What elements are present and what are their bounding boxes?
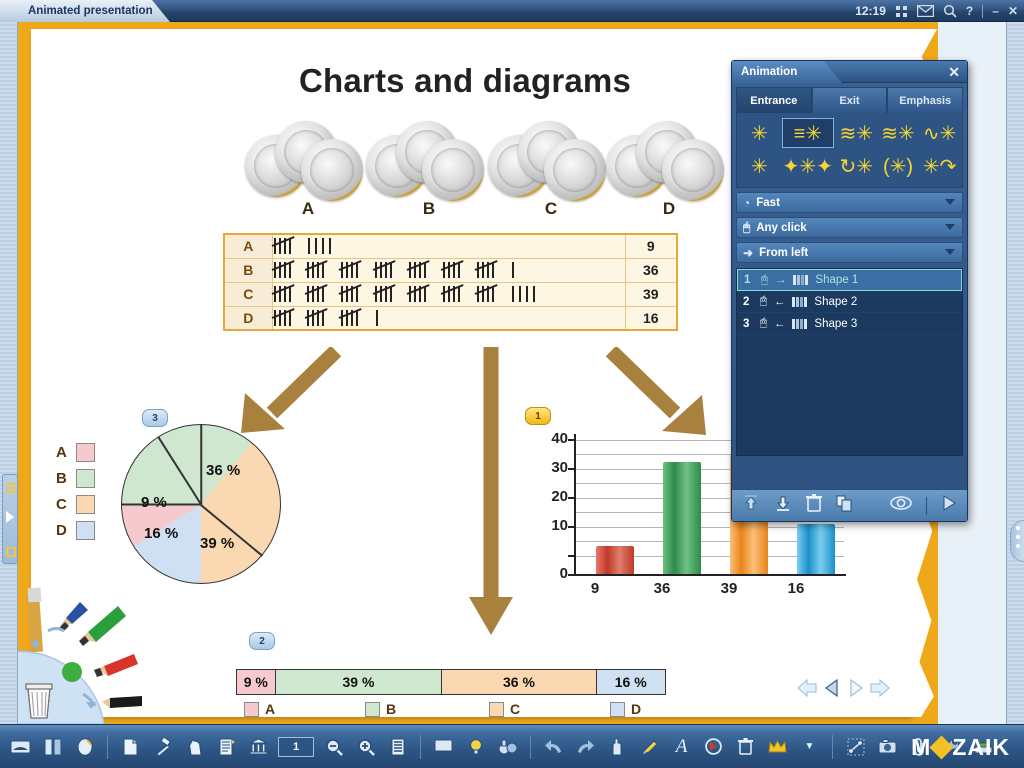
mozaik-logo: MZAIK <box>911 734 1010 761</box>
zoom-out-icon[interactable] <box>321 734 346 760</box>
bar <box>797 524 835 574</box>
undo-icon[interactable] <box>541 734 566 760</box>
presentation-icon[interactable] <box>431 734 456 760</box>
tally-single <box>524 285 531 303</box>
stacked-bar-legend: A B C D <box>236 701 666 721</box>
coin-group-label: A <box>243 199 373 219</box>
legend-item: C <box>489 701 520 717</box>
duplicate-icon[interactable] <box>836 495 853 517</box>
hand-icon[interactable] <box>605 734 630 760</box>
legend-item: D <box>610 701 641 717</box>
shrink-icon[interactable]: ✦✳✦ <box>782 151 834 181</box>
pie-label-a: 9 % <box>141 494 167 511</box>
animation-tabs: Entrance Exit Emphasis <box>736 87 963 113</box>
list-item[interactable]: 1 🖱 → Shape 1 <box>737 269 962 291</box>
tally-single <box>510 261 517 279</box>
book-icon[interactable] <box>8 734 33 760</box>
item-order: 2 <box>743 296 753 308</box>
legend-swatch <box>76 443 95 462</box>
first-page-arrow[interactable] <box>796 678 818 703</box>
delete-icon[interactable] <box>806 494 822 517</box>
legend-swatch <box>76 521 95 540</box>
speed-dropdown[interactable]: ◔ Fast <box>736 192 963 213</box>
legend-item: A <box>244 701 275 717</box>
badge-bar-chart[interactable]: 1 <box>525 407 551 425</box>
search-icon[interactable] <box>943 4 957 18</box>
legend-item: D <box>56 517 95 543</box>
animation-panel-title-tab: Animation <box>732 61 842 83</box>
direction-dropdown[interactable]: ➜ From left <box>736 242 963 263</box>
coin-group-b: B <box>364 121 494 211</box>
divider <box>982 5 983 18</box>
move-up-icon[interactable] <box>742 494 760 517</box>
mouse-icon[interactable] <box>72 734 97 760</box>
tally-marks <box>272 306 625 330</box>
tally-single <box>374 309 381 327</box>
effect-bars-icon <box>792 297 807 307</box>
wave-in-icon[interactable]: ∿✳ <box>920 118 959 148</box>
menu-lines-icon <box>6 483 16 495</box>
next-page-arrow[interactable] <box>846 678 864 703</box>
arrow-to-stacked-bar <box>461 347 521 637</box>
legend-label: D <box>631 701 641 717</box>
fly-in-fast-icon[interactable]: ≋✳ <box>879 118 918 148</box>
chevron-down-icon <box>945 199 955 205</box>
right-rail-grip[interactable] <box>1010 520 1024 562</box>
list-item[interactable]: 2 🖱 ← Shape 2 <box>737 291 962 313</box>
table-row: D 16 <box>224 306 677 330</box>
coin-group-d: D <box>604 121 734 211</box>
effect-bars-icon <box>792 319 807 329</box>
tally-group-of-five <box>273 285 303 303</box>
trigger-dropdown[interactable]: 🖱 Any click <box>736 217 963 238</box>
tally-marks <box>272 282 625 306</box>
row-letter: D <box>224 306 272 330</box>
tally-group-of-five <box>273 237 303 255</box>
pie-chart: 36 % 9 % 16 % 39 % <box>121 424 296 599</box>
legend-swatch <box>365 702 380 717</box>
animation-panel-toolbar <box>732 489 967 521</box>
node-icon[interactable] <box>843 734 868 760</box>
bar-chart-x-axis <box>574 574 846 576</box>
chess-knight-icon[interactable] <box>182 734 207 760</box>
close-icon[interactable]: ✕ <box>948 64 960 81</box>
effect-bars-icon <box>793 275 808 285</box>
bulb-icon[interactable] <box>463 734 488 760</box>
pie-divider <box>200 425 202 505</box>
legend-item: B <box>56 465 95 491</box>
pie-label-d: 16 % <box>144 525 178 542</box>
tally-single <box>327 237 334 255</box>
legend-label: A <box>56 444 66 461</box>
record-icon[interactable] <box>701 734 726 760</box>
legend-swatch <box>489 702 504 717</box>
legend-item: C <box>56 491 95 517</box>
stack-segment-b: 39 % <box>276 670 443 694</box>
fly-in-icon[interactable]: ≡✳ <box>782 118 834 148</box>
coin-icon <box>544 139 606 201</box>
help-icon[interactable]: ? <box>966 4 973 18</box>
y-tick-label: 40 <box>538 430 568 447</box>
row-letter: A <box>224 234 272 258</box>
coin-group-label: D <box>604 199 734 219</box>
tally-group-of-five <box>273 309 303 327</box>
stack-segment-a: 9 % <box>237 670 276 694</box>
tally-group-of-five <box>340 309 370 327</box>
mail-icon[interactable] <box>917 5 934 17</box>
table-row: C 39 <box>224 282 677 306</box>
row-total: 39 <box>625 282 677 306</box>
tally-group-of-five <box>306 285 336 303</box>
title-bar: Animated presentation 12:19 ? – ✕ <box>0 0 1024 22</box>
mouse-icon: 🖱 <box>743 220 750 235</box>
text-lines-icon[interactable] <box>385 734 410 760</box>
close-button[interactable]: ✕ <box>1008 4 1018 18</box>
direction-icon: ← <box>774 318 786 330</box>
tab-emphasis[interactable]: Emphasis <box>887 87 963 113</box>
row-total: 16 <box>625 306 677 330</box>
tally-group-of-five <box>306 261 336 279</box>
legend-swatch <box>76 495 95 514</box>
list-icon[interactable] <box>214 734 239 760</box>
shape-name: Shape 1 <box>815 274 858 286</box>
animation-shape-list[interactable]: 1 🖱 → Shape 1 2 🖱 ← Shape 2 3 🖱 ← Shape … <box>736 268 963 456</box>
legend-label: B <box>386 701 396 717</box>
bar <box>663 462 701 574</box>
prev-page-arrow[interactable] <box>823 678 841 703</box>
tally-group-of-five <box>374 261 404 279</box>
mouse-icon: 🖱 <box>760 317 767 330</box>
direction-icon: ← <box>774 296 786 308</box>
animation-panel-titlebar: Animation ✕ <box>732 61 967 83</box>
page-icon[interactable] <box>118 734 143 760</box>
slide-navigation <box>796 678 891 703</box>
left-rail-panel-tab[interactable] <box>2 474 18 564</box>
table-row: A 9 <box>224 234 677 258</box>
chevron-down-icon <box>945 224 955 230</box>
binoculars-icon[interactable] <box>495 734 520 760</box>
expand-icon[interactable] <box>6 547 16 557</box>
mouse-icon: 🖱 <box>760 295 767 308</box>
table-row: B 36 <box>224 258 677 282</box>
tally-single <box>313 237 320 255</box>
y-tick-label: 10 <box>538 517 568 534</box>
item-order: 3 <box>743 318 753 330</box>
orbit-icon[interactable]: ✳↷ <box>920 151 959 181</box>
row-letter: C <box>224 282 272 306</box>
tally-group-of-five <box>476 261 506 279</box>
burst-icon[interactable]: ✳ <box>740 118 779 148</box>
tally-group-of-five <box>374 285 404 303</box>
tally-single <box>517 285 524 303</box>
expand-icon[interactable]: ✳ <box>740 151 779 181</box>
left-rail <box>0 22 18 724</box>
logo-diamond-icon <box>930 735 954 759</box>
minimize-button[interactable]: – <box>992 4 999 18</box>
mouse-icon: 🖱 <box>761 274 768 287</box>
pie-chart-legend: A B C D <box>56 439 95 543</box>
tally-single <box>320 237 327 255</box>
coin-group-label: C <box>486 199 616 219</box>
stack-segment-d: 16 % <box>597 670 665 694</box>
move-down-icon[interactable] <box>774 494 792 517</box>
speed-icon: ◔ <box>743 196 750 210</box>
legend-label: C <box>56 496 66 513</box>
play-icon[interactable] <box>941 495 957 516</box>
grid-icon[interactable] <box>895 5 908 18</box>
logo-text-right: ZAIK <box>952 734 1010 761</box>
tally-group-of-five <box>340 285 370 303</box>
coin-icon <box>422 139 484 201</box>
camera-icon[interactable] <box>875 734 900 760</box>
stack-segment-c: 36 % <box>442 670 596 694</box>
right-rail <box>1006 22 1024 724</box>
pie-label-c: 39 % <box>200 535 234 552</box>
trigger-value: Any click <box>756 222 807 234</box>
x-tick-label: 16 <box>771 580 821 597</box>
effect-icon-grid: ✳ ≡✳ ≋✳ ≋✳ ∿✳ ✳ ✦✳✦ ↻✳ (✳) ✳↷ <box>736 113 963 188</box>
preview-eye-icon[interactable] <box>890 496 912 515</box>
coin-group-c: C <box>486 121 616 211</box>
app-title-label: Animated presentation <box>28 5 153 17</box>
pie-label-b: 36 % <box>206 462 240 479</box>
coin-group-a: A <box>243 121 373 211</box>
row-total: 9 <box>625 234 677 258</box>
last-page-arrow[interactable] <box>869 678 891 703</box>
tally-group-of-five <box>408 261 438 279</box>
stacked-bar-chart: 9 % 39 % 36 % 16 % <box>236 669 666 695</box>
chevron-down-icon <box>945 249 955 255</box>
logo-text-left: M <box>911 734 931 761</box>
x-tick-label: 39 <box>704 580 754 597</box>
hammer-icon[interactable] <box>150 734 175 760</box>
tally-group-of-five <box>442 285 472 303</box>
list-item[interactable]: 3 🖱 ← Shape 3 <box>737 313 962 335</box>
legend-swatch <box>244 702 259 717</box>
animation-panel-title: Animation <box>741 66 797 78</box>
coin-icon <box>662 139 724 201</box>
tally-single <box>306 237 313 255</box>
text-icon[interactable]: A <box>669 734 694 760</box>
tally-group-of-five <box>408 285 438 303</box>
app-title-tab[interactable]: Animated presentation <box>0 0 170 22</box>
speed-value: Fast <box>756 197 780 209</box>
badge-stacked-bar[interactable]: 2 <box>249 632 275 650</box>
legend-item: A <box>56 439 95 465</box>
swivel-icon[interactable]: (✳) <box>879 151 918 181</box>
y-tick-label: 0 <box>538 565 568 582</box>
crown-icon[interactable] <box>765 734 790 760</box>
tally-single <box>510 285 517 303</box>
tally-group-of-five <box>273 261 303 279</box>
row-letter: B <box>224 258 272 282</box>
zoom-in-icon[interactable] <box>353 734 378 760</box>
y-tick-label: 30 <box>538 459 568 476</box>
item-order: 1 <box>744 274 754 286</box>
legend-swatch <box>610 702 625 717</box>
legend-swatch <box>76 469 95 488</box>
play-icon[interactable] <box>6 511 14 523</box>
tab-exit[interactable]: Exit <box>812 87 888 113</box>
x-tick-label: 9 <box>570 580 620 597</box>
tally-group-of-five <box>442 261 472 279</box>
bar <box>596 546 634 574</box>
tally-marks <box>272 258 625 282</box>
clock-label: 12:19 <box>855 4 886 18</box>
tally-single <box>531 285 538 303</box>
redo-icon[interactable] <box>573 734 598 760</box>
fly-in-curve-icon[interactable]: ≋✳ <box>837 118 876 148</box>
y-tick-label: 20 <box>538 488 568 505</box>
spin-icon[interactable]: ↻✳ <box>837 151 876 181</box>
library-icon[interactable] <box>246 734 271 760</box>
legend-item: B <box>365 701 396 717</box>
bottom-toolbar: 1 A ▼ <box>0 724 1024 768</box>
legend-label: D <box>56 522 66 539</box>
tally-marks <box>272 234 625 258</box>
tally-group-of-five <box>476 285 506 303</box>
coin-icon <box>301 139 363 201</box>
shape-name: Shape 2 <box>814 296 857 308</box>
legend-label: A <box>265 701 275 717</box>
trash-icon[interactable] <box>733 734 758 760</box>
legend-label: B <box>56 470 66 487</box>
tab-entrance[interactable]: Entrance <box>736 87 812 113</box>
arrow-to-bar-chart <box>601 347 711 442</box>
tally-group-of-five <box>306 309 336 327</box>
titlebar-right-controls: 12:19 ? – ✕ <box>855 0 1018 22</box>
direction-value: From left <box>759 247 808 259</box>
notebook-icon[interactable] <box>40 734 65 760</box>
page-number-box[interactable]: 1 <box>278 737 314 757</box>
shape-name: Shape 3 <box>814 318 857 330</box>
row-total: 36 <box>625 258 677 282</box>
chevron-down-icon[interactable]: ▼ <box>797 734 822 760</box>
highlighter-icon[interactable] <box>637 734 662 760</box>
tally-table: A 9 B 36 C 39 D 16 <box>223 233 678 331</box>
tally-group-of-five <box>340 261 370 279</box>
direction-icon: ➜ <box>743 246 753 260</box>
legend-label: C <box>510 701 520 717</box>
animation-panel[interactable]: Animation ✕ Entrance Exit Emphasis ✳ ≡✳ … <box>731 60 968 522</box>
direction-icon: → <box>775 274 787 286</box>
coin-group-label: B <box>364 199 494 219</box>
x-tick-label: 36 <box>637 580 687 597</box>
